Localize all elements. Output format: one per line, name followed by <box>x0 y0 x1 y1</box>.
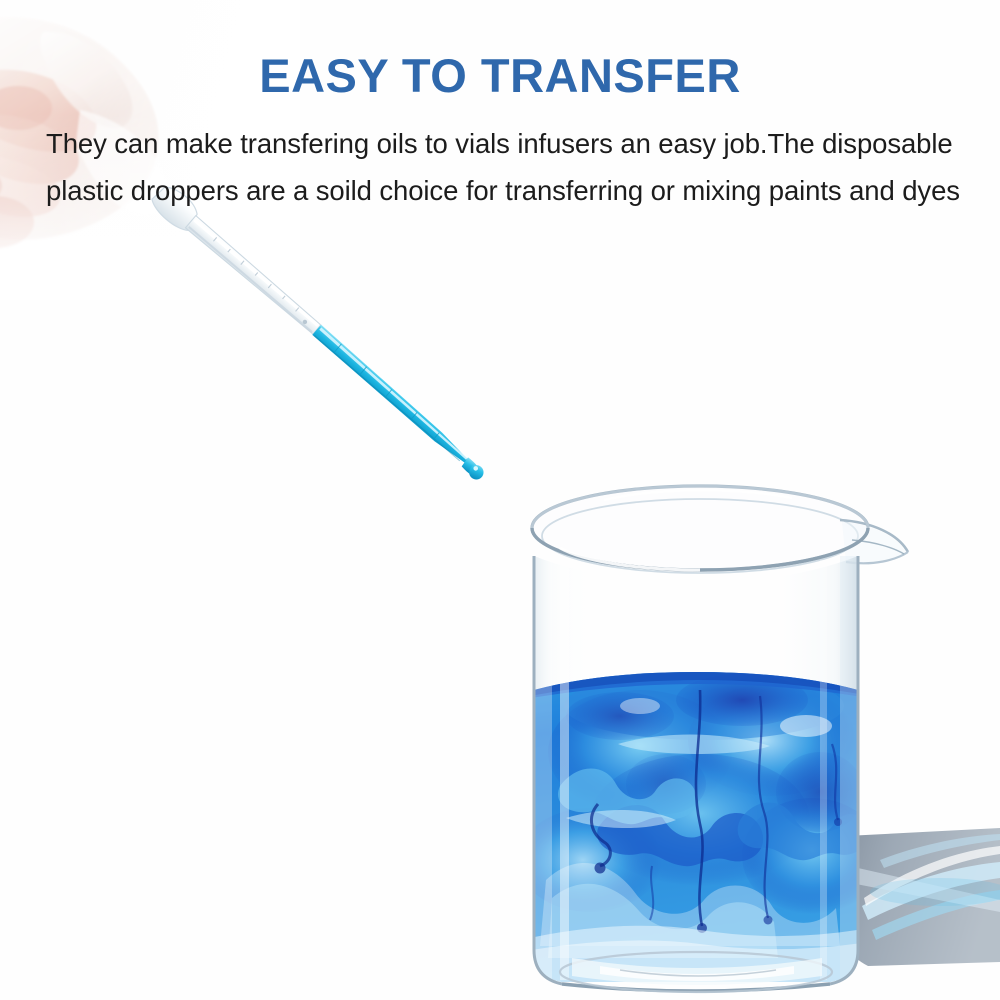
description-line-2: plastic droppers are a soild choice for … <box>46 167 962 214</box>
description-line-1: They can make transfering oils to vials … <box>46 120 962 167</box>
marketing-image: EASY TO TRANSFER They can make transferi… <box>0 0 1000 1000</box>
page-title: EASY TO TRANSFER <box>0 52 1000 99</box>
description-text: They can make transfering oils to vials … <box>46 120 962 214</box>
